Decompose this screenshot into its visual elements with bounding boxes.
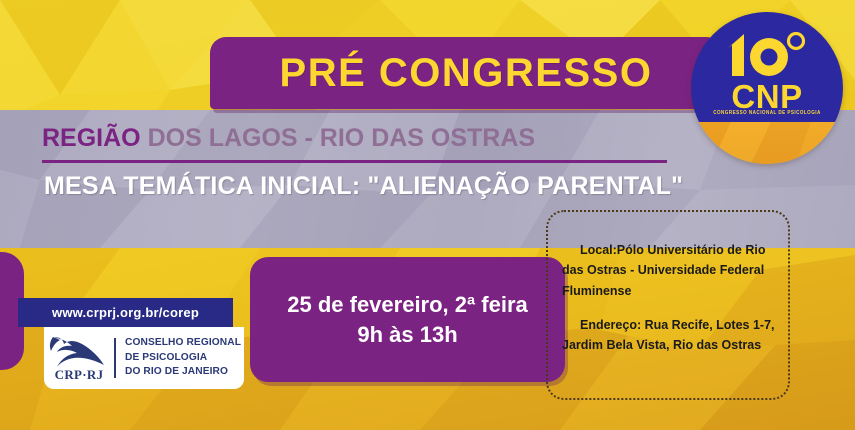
crp-logo-card: CRP·RJ CONSELHO REGIONAL DE PSICOLOGIA D… — [44, 327, 244, 389]
crp-bird-icon — [44, 332, 114, 372]
info-local-line-1: Local:Pólo Universitário de Rio — [562, 240, 788, 260]
cnp-logo-subtitle: CONGRESSO NACIONAL DE PSICOLOGIA — [691, 111, 843, 116]
date-box: 25 de fevereiro, 2ª feira 9h às 13h — [250, 257, 565, 382]
crp-logo-mark: CRP·RJ — [44, 332, 114, 384]
title-bar: PRÉ CONGRESSO — [210, 37, 722, 109]
region-divider — [42, 160, 667, 163]
cnp-logo-10-mark — [691, 32, 843, 83]
info-endereco-line-1: Endereço: Rua Recife, Lotes 1-7, — [562, 315, 788, 335]
page-title: PRÉ CONGRESSO — [280, 51, 653, 96]
region-rest: DOS LAGOS - RIO DAS OSTRAS — [141, 124, 535, 152]
info-endereco-line-2: Jardim Bela Vista, Rio das Ostras — [562, 335, 788, 355]
date-line-1: 25 de fevereiro, 2ª feira — [287, 290, 528, 320]
website-url-bar[interactable]: www.crprj.org.br/corep — [18, 298, 233, 327]
crp-mark-text: CRP·RJ — [44, 367, 114, 383]
info-local-line-3: Fluminense — [562, 281, 788, 301]
poster-canvas: PRÉ CONGRESSO REGIÃO DOS LAGOS - RIO DAS… — [0, 0, 855, 430]
crp-logo-wordmark: CONSELHO REGIONAL DE PSICOLOGIA DO RIO D… — [116, 336, 241, 379]
info-box-text: Local:Pólo Universitário de Rio das Ostr… — [562, 240, 788, 355]
date-line-2: 9h às 13h — [357, 320, 457, 350]
region-subtitle: REGIÃO DOS LAGOS - RIO DAS OSTRAS — [42, 124, 535, 153]
crp-line-2: DE PSICOLOGIA — [125, 351, 241, 365]
cnp-logo-acronym: CNP — [691, 80, 843, 113]
info-spacer — [562, 301, 788, 315]
cnp-logo: CNP CONGRESSO NACIONAL DE PSICOLOGIA — [691, 12, 843, 164]
info-local-line-2: das Ostras - Universidade Federal — [562, 260, 788, 280]
cnp-logo-10-glyph — [722, 32, 812, 78]
region-strong: REGIÃO — [42, 124, 141, 152]
cnp-logo-polygon-texture — [691, 122, 843, 164]
website-url-text: www.crprj.org.br/corep — [52, 305, 199, 320]
theme-line: MESA TEMÁTICA INICIAL: "ALIENAÇÃO PARENT… — [44, 172, 683, 201]
crp-line-3: DO RIO DE JANEIRO — [125, 365, 241, 379]
crp-line-1: CONSELHO REGIONAL — [125, 336, 241, 350]
